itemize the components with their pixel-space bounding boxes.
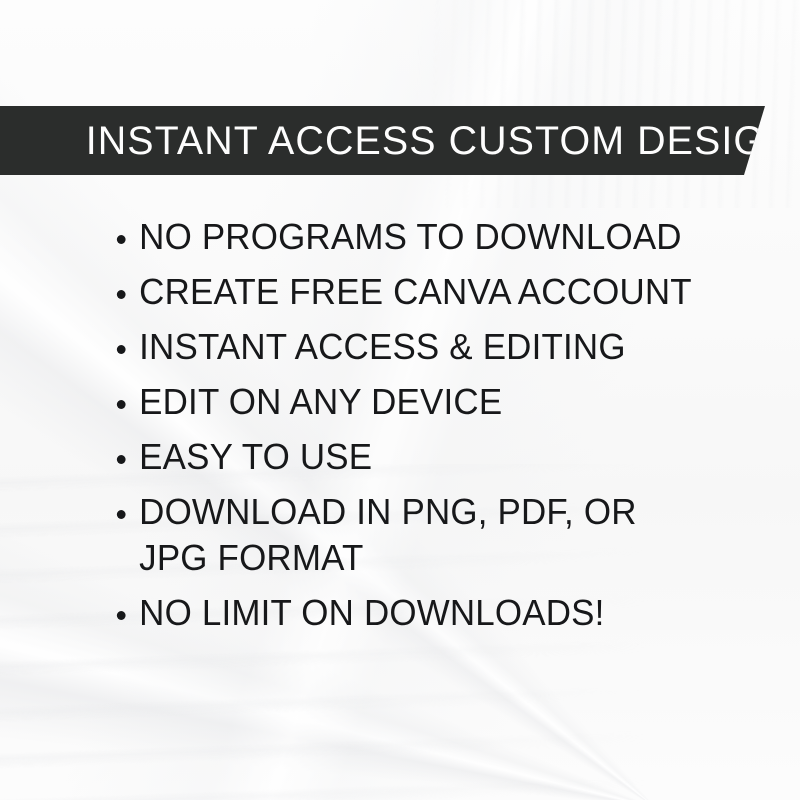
feature-label: NO LIMIT ON DOWNLOADS! bbox=[139, 592, 604, 633]
background-vertical-grain bbox=[0, 0, 800, 208]
list-item: CREATE FREE CANVA ACCOUNT bbox=[112, 269, 694, 315]
list-item: EDIT ON ANY DEVICE bbox=[112, 379, 694, 425]
feature-list: NO PROGRAMS TO DOWNLOAD CREATE FREE CANV… bbox=[112, 214, 712, 645]
feature-label: NO PROGRAMS TO DOWNLOAD bbox=[139, 216, 682, 257]
list-item: DOWNLOAD IN PNG, PDF, OR JPG FORMAT bbox=[112, 489, 653, 581]
list-item: NO LIMIT ON DOWNLOADS! bbox=[112, 590, 694, 636]
header-banner: INSTANT ACCESS CUSTOM DESIGNS bbox=[0, 106, 766, 175]
list-item: NO PROGRAMS TO DOWNLOAD bbox=[112, 214, 694, 260]
page-title: INSTANT ACCESS CUSTOM DESIGNS bbox=[0, 121, 800, 161]
list-item: EASY TO USE bbox=[112, 434, 694, 480]
list-item: INSTANT ACCESS & EDITING bbox=[112, 324, 694, 370]
feature-label: INSTANT ACCESS & EDITING bbox=[139, 326, 626, 367]
promo-graphic-canvas: INSTANT ACCESS CUSTOM DESIGNS NO PROGRAM… bbox=[0, 0, 800, 800]
feature-label: DOWNLOAD IN PNG, PDF, OR JPG FORMAT bbox=[139, 491, 636, 578]
feature-label: CREATE FREE CANVA ACCOUNT bbox=[139, 271, 692, 312]
feature-label: EDIT ON ANY DEVICE bbox=[139, 381, 502, 422]
feature-label: EASY TO USE bbox=[139, 436, 372, 477]
